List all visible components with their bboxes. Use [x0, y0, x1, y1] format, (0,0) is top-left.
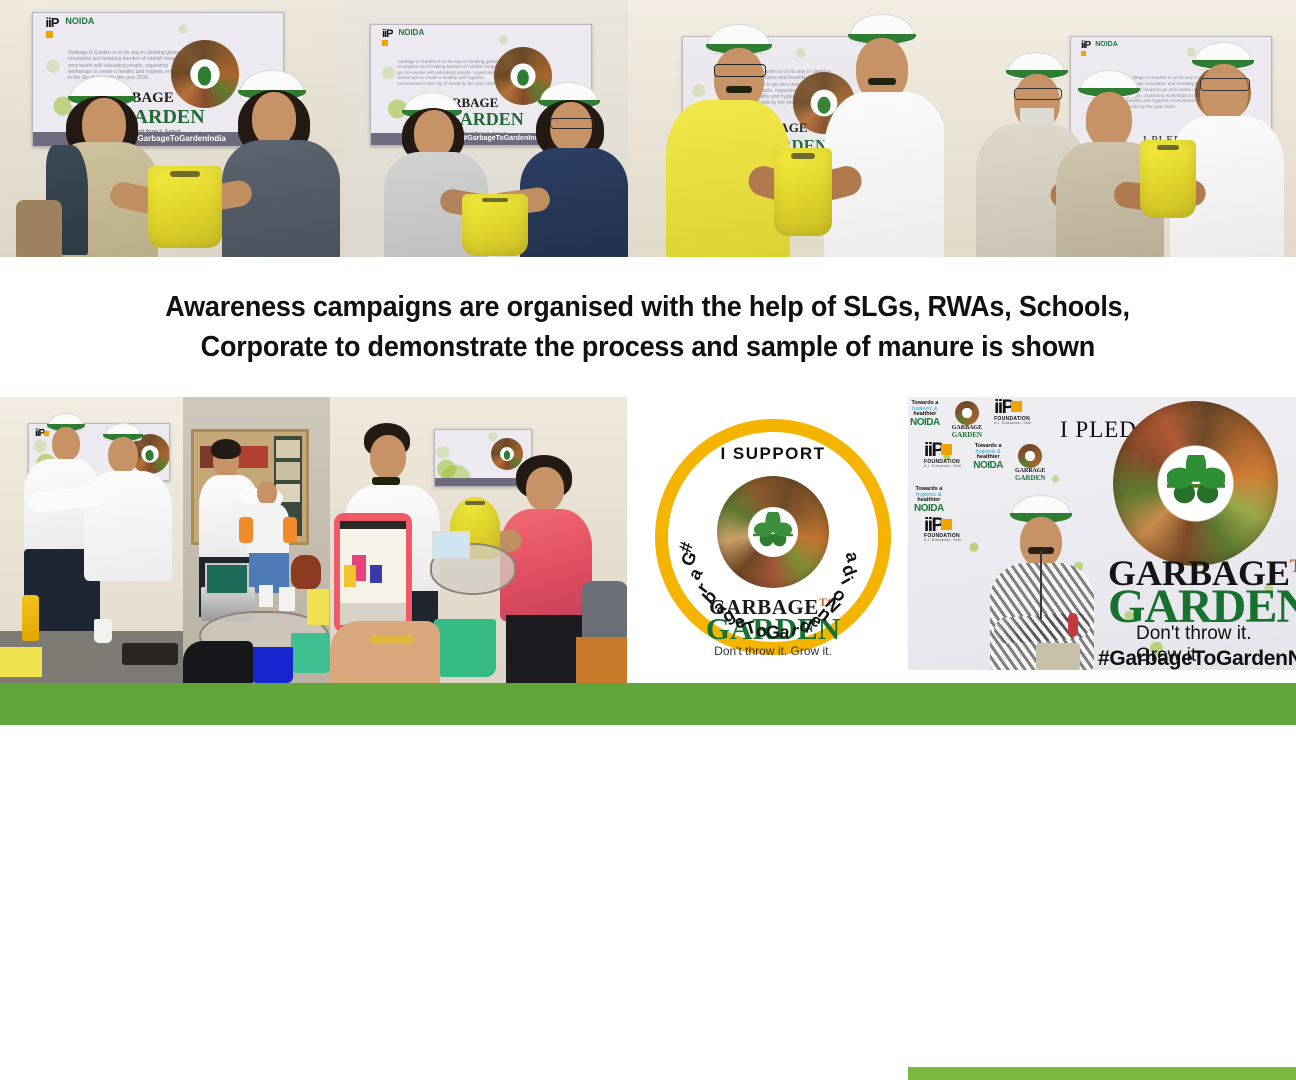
- banner-brand-to: TO: [1290, 556, 1296, 577]
- photo-bottom-3: [330, 397, 627, 683]
- noida-logo-icon: NOIDA: [1095, 42, 1118, 48]
- board-photo: [276, 462, 300, 480]
- badge-tagline: Don't throw it. Grow it.: [668, 644, 878, 658]
- held-paper: [1036, 643, 1080, 670]
- face: [1200, 64, 1248, 122]
- face: [52, 427, 80, 461]
- support-badge-panel: I SUPPORT GARBAGETO GARDEN Don't throw i…: [627, 397, 908, 683]
- caption-line-1: Awareness campaigns are organised with t…: [166, 287, 1130, 327]
- trousers: [506, 615, 586, 683]
- badge-hashtag-arc: #GarbageToGardenNoida: [668, 432, 878, 642]
- iip-logo-icon: iiP: [46, 18, 63, 39]
- moustache-icon: [868, 78, 896, 85]
- smartphone-screen: [340, 521, 406, 625]
- face: [414, 110, 454, 158]
- board-photo: [276, 440, 300, 458]
- yellow-folder: [0, 647, 42, 677]
- photo-top-3: Garbage to Garden is on its way in climb…: [628, 0, 944, 257]
- iip-logo-icon: iiP: [35, 430, 49, 438]
- compost-pile: [576, 637, 627, 683]
- logo-row: iiP FOUNDATIONA.I. Education, Skill Towa…: [910, 444, 1060, 482]
- shoulder-bag: [16, 200, 62, 257]
- yellow-bottle: [22, 595, 39, 641]
- moustache-icon: [372, 477, 400, 485]
- face: [108, 437, 138, 473]
- compost-kit-bag: [462, 194, 528, 256]
- g2g-logo-icon: GARBAGE GARDEN: [952, 401, 982, 439]
- noida-word: NOIDA: [973, 461, 1003, 471]
- footer-green-bar: [0, 683, 1296, 725]
- iip-subtitle-text: A.I. Education, Skill: [924, 539, 961, 542]
- noida-logo-icon: NOIDA: [65, 18, 94, 26]
- moustache-icon: [726, 86, 752, 93]
- noida-logo-icon: NOIDA: [398, 30, 424, 37]
- iip-sub: FOUNDATIONA.I. Education, Skill: [924, 461, 961, 468]
- paper-cup: [279, 587, 295, 611]
- glove-icon: [283, 517, 297, 543]
- noida-logo-icon: Towards a hygienic & healthier NOIDA: [914, 487, 944, 514]
- compost-kit-bag: [148, 166, 222, 248]
- wreath-icon: [1113, 401, 1278, 566]
- compost-kit-bag: [774, 148, 832, 236]
- face: [370, 435, 406, 479]
- iip-logo-icon: iiP: [1081, 42, 1093, 58]
- glove-icon: [239, 517, 253, 543]
- blue-bin: [251, 647, 293, 683]
- poster-hashtag: #GarbageToGardenIndia: [463, 135, 544, 142]
- face: [1086, 92, 1132, 148]
- bottom-photo-row: iiP: [0, 397, 1296, 683]
- wrist-thread: [1068, 613, 1078, 637]
- badge-hashtag-char: a: [778, 622, 791, 644]
- green-bucket: [434, 619, 496, 677]
- wreath-icon: [1018, 444, 1042, 468]
- wreath-icon: [171, 40, 239, 108]
- slide-root: iiP NOIDA Garbage to Garden is on its wa…: [0, 0, 1296, 725]
- iip-subtitle-text: A.I. Education, Skill: [924, 465, 961, 468]
- iip-logo-icon: iiP FOUNDATIONA.I. Education, Skill: [924, 444, 961, 468]
- compost-kit-bag: [1140, 140, 1196, 218]
- sprout-icon: [1167, 455, 1225, 513]
- iip-logo-icon: iiP FOUNDATIONA.I. Education, Skill: [924, 519, 961, 543]
- paper-cup: [259, 585, 273, 607]
- g2g-garden: GARDEN: [952, 431, 982, 439]
- poster-logo-row: iiP NOIDA: [382, 30, 424, 48]
- photo-bottom-banner: Towards a hygienic & healthier NOIDA GAR…: [908, 397, 1296, 670]
- iip-subtitle-text: A.I. Education, Skill: [994, 422, 1031, 425]
- hair: [211, 439, 241, 459]
- banner-green-edge: [908, 1067, 1296, 1080]
- lanyard: [1040, 551, 1064, 619]
- g2g-logo-text: GARBAGE GARDEN: [1015, 468, 1045, 482]
- g2g-garden: GARDEN: [1015, 474, 1045, 482]
- banner-hashtag: #GarbageToGardenNoida: [1098, 647, 1296, 670]
- iip-sub: FOUNDATIONA.I. Education, Skill: [924, 535, 961, 542]
- poster-hashtag: #GarbageToGardenIndia: [133, 134, 226, 143]
- phone-subject: [344, 565, 356, 587]
- poster-logo-row: iiP NOIDA: [1081, 42, 1118, 58]
- iip-logo-icon: iiP: [382, 30, 396, 48]
- photo-bottom-1: iiP: [0, 397, 183, 683]
- phone-status-bar: [340, 521, 406, 529]
- poster-logo-row: iiP NOIDA: [46, 18, 95, 39]
- slide-caption: Awareness campaigns are organised with t…: [0, 262, 1296, 392]
- iip-sub: FOUNDATIONA.I. Education, Skill: [994, 418, 1031, 425]
- iip-logo-icon: iiP FOUNDATIONA.I. Education, Skill: [994, 401, 1031, 425]
- paper-cup: [94, 619, 112, 643]
- eyeglasses-icon: [714, 64, 766, 77]
- face: [257, 481, 277, 505]
- photo-bottom-2: [183, 397, 330, 683]
- green-bin: [291, 633, 330, 673]
- seated-volunteer: [582, 581, 627, 639]
- eyeglasses-icon: [1200, 78, 1250, 91]
- logo-row: Towards a hygienic & healthier NOIDA GAR…: [910, 401, 1060, 439]
- clay-pot: [291, 555, 321, 589]
- face: [526, 467, 564, 511]
- wreath-icon: [955, 401, 979, 425]
- caption-line-2: Corporate to demonstrate the process and…: [201, 327, 1095, 367]
- poster-body-text: Garbage to Garden is on its way in climb…: [397, 59, 503, 87]
- camera: [122, 643, 178, 665]
- phone-subject: [370, 565, 382, 583]
- g2g-logo-icon: GARBAGE GARDEN: [1015, 444, 1045, 482]
- noida-word: NOIDA: [910, 418, 940, 428]
- face: [252, 92, 296, 146]
- g2g-logo-text: GARBAGE GARDEN: [952, 425, 982, 439]
- garbage-to-garden-banner: Towards a hygienic & healthier NOIDA GAR…: [908, 397, 1296, 670]
- noida-logo-icon: Towards a hygienic & healthier NOIDA: [910, 401, 940, 428]
- laptop-screen: [432, 531, 470, 559]
- hand-holding-phone: [330, 621, 440, 683]
- photo-top-2: iiP NOIDA Garbage to Garden is on its wa…: [344, 0, 628, 257]
- photo-top-1: iiP NOIDA Garbage to Garden is on its wa…: [0, 0, 344, 257]
- yellow-bag: [307, 589, 329, 625]
- photo-top-4: iiP NOIDA Garbage to Garden is on its wa…: [944, 0, 1296, 257]
- noida-logo-icon: Towards a hygienic & healthier NOIDA: [973, 444, 1003, 471]
- eyeglasses-icon: [1014, 88, 1062, 100]
- laptop-screen: [205, 563, 249, 595]
- foreground-person: [183, 641, 253, 683]
- i-support-badge: I SUPPORT GARBAGETO GARDEN Don't throw i…: [655, 419, 891, 655]
- bangle: [370, 635, 414, 644]
- top-photo-strip: iiP NOIDA Garbage to Garden is on its wa…: [0, 0, 1296, 257]
- noida-word: NOIDA: [914, 504, 944, 514]
- wreath-icon: [491, 438, 523, 470]
- eyeglasses-icon: [550, 118, 594, 129]
